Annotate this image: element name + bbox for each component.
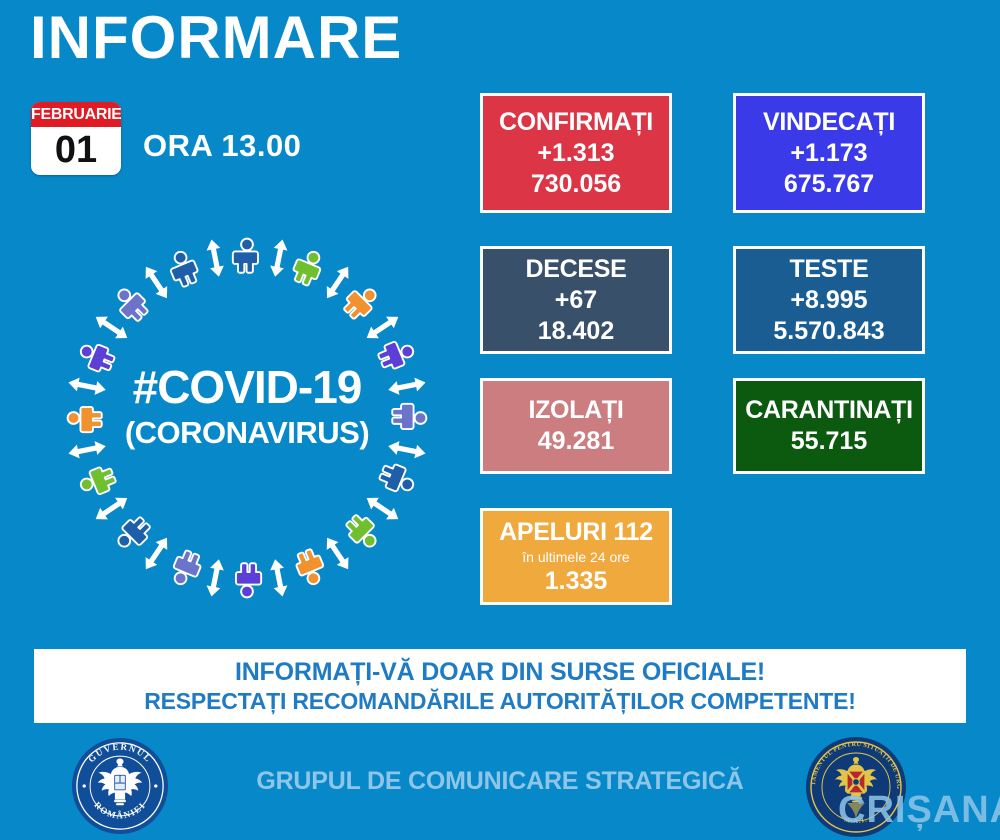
stat-box-decese: DECESE +67 18.402 [480,246,672,354]
stat-box-carantinati: CARANTINAȚI 55.715 [733,378,925,474]
person-figure [112,513,154,555]
report-hour: ORA 13.00 [143,128,301,164]
stat-delta: +67 [485,285,667,316]
stat-total: 730.056 [485,169,667,200]
person-figure [392,404,426,429]
person-figure [236,563,261,597]
person-figure [76,339,117,375]
calendar-day: 01 [31,127,121,175]
stat-delta: +1.173 [738,138,920,169]
stat-sublabel: în ultimele 24 ore [485,548,667,566]
person-figure [168,548,204,589]
dsu-logo: DEPARTAMENTUL PENTRU SITUAȚII DE URGENȚĂ… [806,735,906,840]
person-figure [342,511,384,553]
stat-label: CONFIRMAȚI [485,107,667,138]
person-figure [110,283,152,325]
stat-box-confirmati: CONFIRMAȚI +1.313 730.056 [480,93,672,213]
stat-label: CARANTINAȚI [738,395,920,426]
person-figure [377,461,418,497]
stat-box-teste: TESTE +8.995 5.570.843 [733,246,925,354]
person-figure [292,547,328,588]
person-figure [340,281,382,323]
stat-box-vindecati: VINDECAȚI +1.173 675.767 [733,93,925,213]
advisory-line-2: RESPECTAȚI RECOMANDĂRILE AUTORITĂȚILOR C… [144,687,856,715]
stat-delta: +8.995 [738,285,920,316]
covid-circle-illustration: #COVID-19 (CORONAVIRUS) [42,218,452,618]
person-figure [68,407,102,432]
advisory-line-1: INFORMAȚI-VĂ DOAR DIN SURSE OFICIALE! [235,657,765,687]
stat-label: VINDECAȚI [738,107,920,138]
stat-total: 1.335 [485,566,667,597]
calendar-icon: FEBRUARIE 01 [31,102,121,175]
stat-label: DECESE [485,254,667,285]
stat-total: 675.767 [738,169,920,200]
person-figure [376,336,417,372]
person-figure [165,248,201,289]
stat-label: TESTE [738,254,920,285]
page-title: INFORMARE [30,8,402,68]
stat-total: 18.402 [485,316,667,347]
stat-total: 5.570.843 [738,316,920,347]
people-circle-svg [42,218,452,618]
stat-delta: +1.313 [485,138,667,169]
calendar-month: FEBRUARIE [31,102,121,127]
stat-box-izolati: IZOLAȚI 49.281 [480,378,672,474]
stat-label: IZOLAȚI [485,395,667,426]
stat-label: APELURI 112 [485,517,667,548]
person-figure [77,463,118,499]
person-figure [233,239,258,273]
stat-total: 49.281 [485,426,667,457]
stat-total: 55.715 [738,426,920,457]
advisory-banner: INFORMAȚI-VĂ DOAR DIN SURSE OFICIALE! RE… [34,649,966,723]
stat-box-apeluri: APELURI 112 în ultimele 24 ore 1.335 [480,508,672,605]
person-figure [290,247,326,288]
